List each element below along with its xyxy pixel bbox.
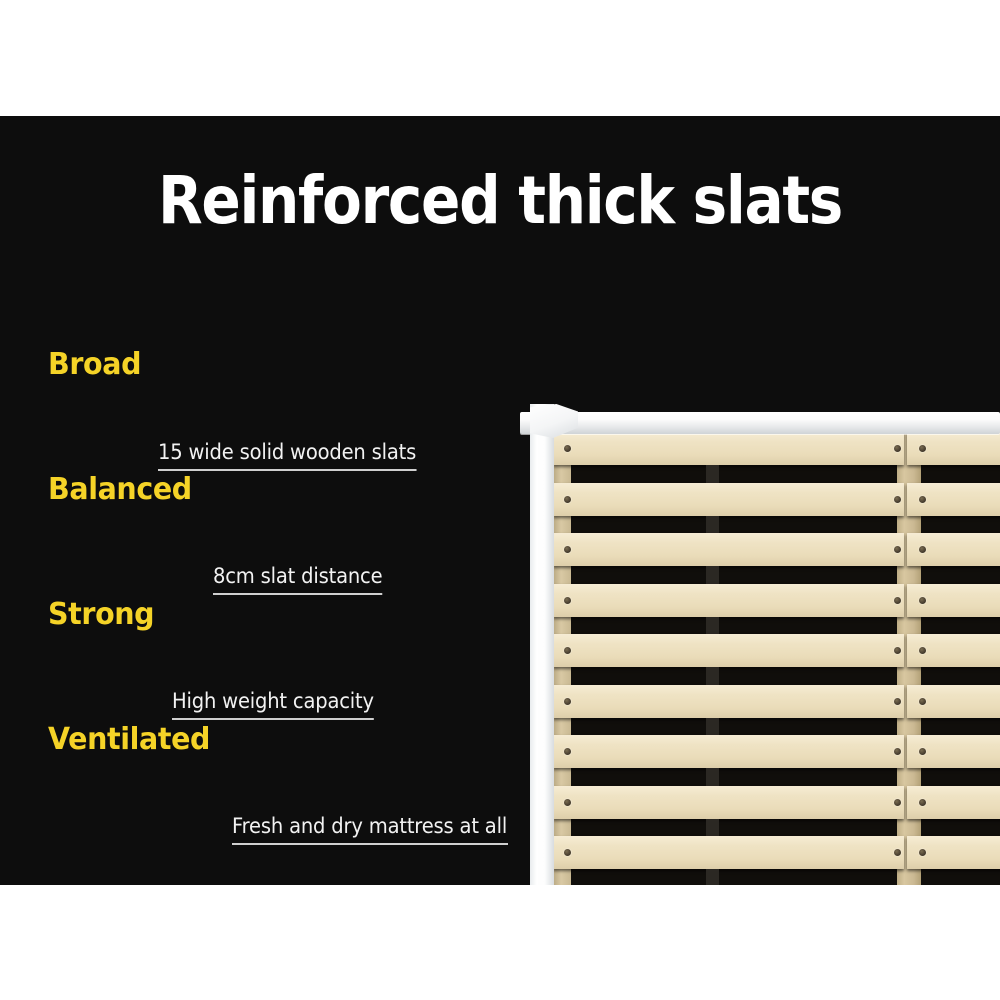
feature-label: Strong: [48, 600, 154, 630]
slat-screw: [919, 496, 926, 503]
slat-screw: [564, 799, 571, 806]
dark-support-strap: [706, 566, 719, 584]
feature-underline: [158, 469, 416, 471]
dark-support-strap: [706, 819, 719, 837]
wooden-slat: [907, 735, 1000, 768]
product-photo-bed-slats: [508, 232, 1000, 885]
slat-screw: [919, 748, 926, 755]
dark-support-strap: [706, 667, 719, 685]
wooden-slat: [553, 432, 904, 465]
dark-support-strap: [706, 617, 719, 635]
feature-underline: [172, 718, 374, 720]
product-feature-banner: Reinforced thick slats Broad 15 wide sol…: [0, 0, 1000, 1000]
dark-support-strap: [706, 516, 719, 534]
black-content-panel: Reinforced thick slats Broad 15 wide sol…: [0, 116, 1000, 885]
feature-label: Ventilated: [48, 725, 210, 755]
slat-screw: [919, 546, 926, 553]
slat-screw: [564, 597, 571, 604]
feature-description: 8cm slat distance: [213, 566, 382, 593]
slat-screw: [919, 799, 926, 806]
feature-list: Broad 15 wide solid wooden slats Balance…: [48, 350, 568, 850]
dark-support-strap: [706, 768, 719, 786]
wooden-slat: [907, 786, 1000, 819]
wooden-slat: [553, 634, 904, 667]
slat-screw: [564, 748, 571, 755]
wooden-slat: [553, 584, 904, 617]
slat-screw: [894, 698, 901, 705]
slat-screw: [919, 647, 926, 654]
slat-screw: [919, 849, 926, 856]
wooden-slat: [907, 836, 1000, 869]
feature-description-wrap: 15 wide solid wooden slats: [158, 442, 436, 471]
top-white-margin: [0, 0, 1000, 116]
dark-support-strap: [706, 718, 719, 736]
slat-screw: [894, 597, 901, 604]
page-title: Reinforced thick slats: [60, 168, 940, 234]
dark-support-strap: [706, 869, 719, 885]
slat-screw: [919, 445, 926, 452]
photo-dark-backdrop: [508, 232, 1000, 412]
feature-label: Balanced: [48, 475, 192, 505]
feature-description: 15 wide solid wooden slats: [158, 442, 416, 469]
slat-screw: [894, 546, 901, 553]
wooden-slat: [907, 584, 1000, 617]
feature-label: Broad: [48, 350, 141, 380]
slat-screw: [919, 597, 926, 604]
slat-screw: [894, 799, 901, 806]
slat-screw: [919, 698, 926, 705]
dark-support-strap: [706, 465, 719, 483]
slat-screw: [894, 647, 901, 654]
slat-screw: [894, 496, 901, 503]
feature-description-wrap: 8cm slat distance: [213, 566, 395, 595]
slat-screw: [564, 496, 571, 503]
wooden-slat: [907, 634, 1000, 667]
slat-screw: [564, 698, 571, 705]
slat-screw: [564, 849, 571, 856]
wooden-slat: [907, 432, 1000, 465]
wooden-slat: [907, 685, 1000, 718]
slat-screw: [894, 748, 901, 755]
feature-description-wrap: High weight capacity: [172, 691, 389, 720]
wooden-slat: [553, 483, 904, 516]
feature-item-balanced: Balanced 8cm slat distance: [48, 475, 568, 600]
wooden-slat: [553, 735, 904, 768]
slat-screw: [894, 849, 901, 856]
feature-description: High weight capacity: [172, 691, 374, 718]
feature-item-broad: Broad 15 wide solid wooden slats: [48, 350, 568, 475]
wooden-slat: [553, 836, 904, 869]
slat-screw: [894, 445, 901, 452]
feature-item-ventilated: Ventilated Fresh and dry mattress at all…: [48, 725, 568, 850]
wooden-slat: [553, 533, 904, 566]
white-top-rail: [520, 412, 1000, 434]
slat-screw: [564, 546, 571, 553]
white-corner-post: [530, 404, 554, 885]
wooden-slat: [907, 483, 1000, 516]
wooden-slat: [553, 786, 904, 819]
wooden-slat: [907, 533, 1000, 566]
wooden-slat: [553, 685, 904, 718]
feature-underline: [213, 593, 382, 595]
slat-screw: [564, 647, 571, 654]
slat-screw: [564, 445, 571, 452]
feature-item-strong: Strong High weight capacity: [48, 600, 568, 725]
bottom-white-margin: [0, 885, 1000, 1000]
